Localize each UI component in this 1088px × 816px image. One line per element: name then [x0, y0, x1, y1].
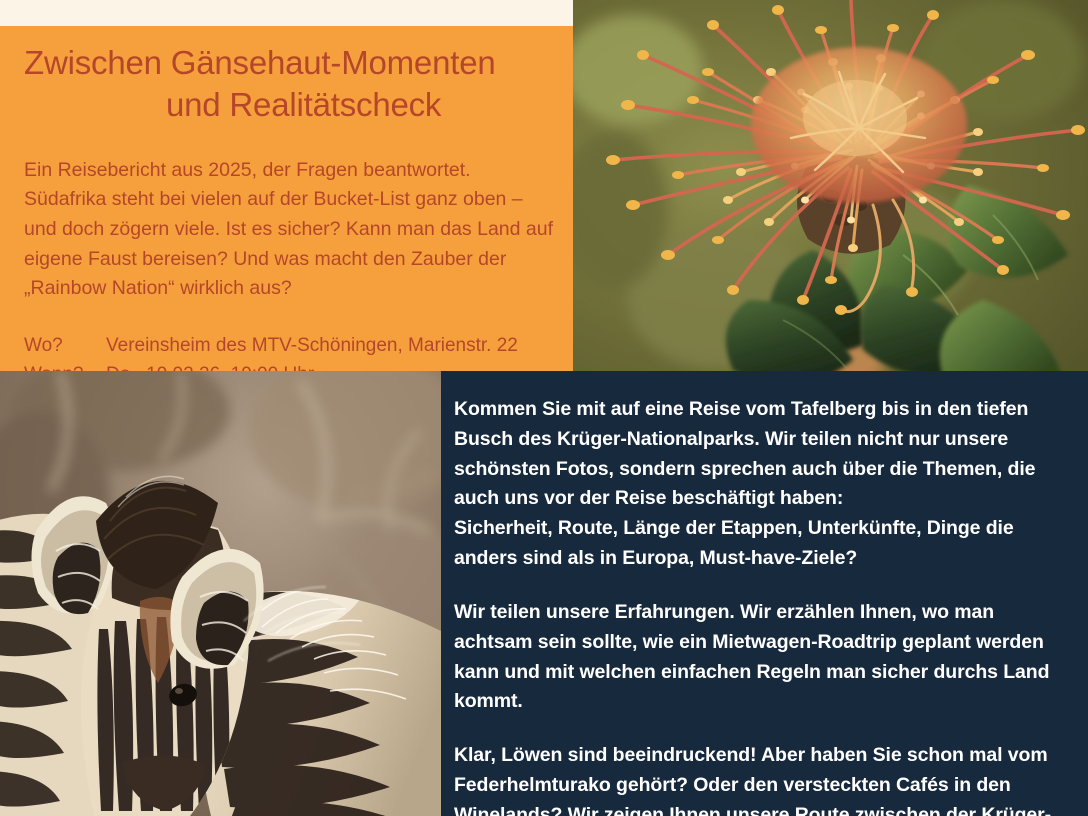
intro-paragraph: Ein Reisebericht aus 2025, der Fragen be… [24, 156, 553, 304]
description-panel: Kommen Sie mit auf eine Reise vom Tafelb… [441, 371, 1088, 816]
protea-illustration [573, 0, 1088, 378]
orange-intro-block: Zwischen Gänsehaut-Momenten und Realität… [0, 26, 573, 371]
body-paragraph-1: Kommen Sie mit auf eine Reise vom Tafelb… [454, 395, 1074, 574]
detail-label-where: Wo? [24, 332, 106, 361]
detail-value-where: Vereinsheim des MTV-Schöningen, Marienst… [106, 332, 553, 361]
pincushion-protea-photo [573, 0, 1088, 378]
event-poster: Zwischen Gänsehaut-Momenten und Realität… [0, 0, 1088, 816]
zebra-illustration [0, 371, 441, 816]
page-title-line-1: Zwischen Gänsehaut-Momenten [24, 42, 553, 84]
detail-row-location: Wo? Vereinsheim des MTV-Schöningen, Mari… [24, 332, 553, 361]
page-title-line-2: und Realitätscheck [24, 84, 553, 126]
zebra-foal-photo [0, 371, 441, 816]
cream-top-strip [0, 0, 573, 26]
top-left-column: Zwischen Gänsehaut-Momenten und Realität… [0, 0, 573, 371]
page-title: Zwischen Gänsehaut-Momenten und Realität… [24, 42, 553, 126]
body-paragraph-3: Klar, Löwen sind beeindruckend! Aber hab… [454, 741, 1074, 816]
body-paragraph-2: Wir teilen unsere Erfahrungen. Wir erzäh… [454, 598, 1074, 717]
